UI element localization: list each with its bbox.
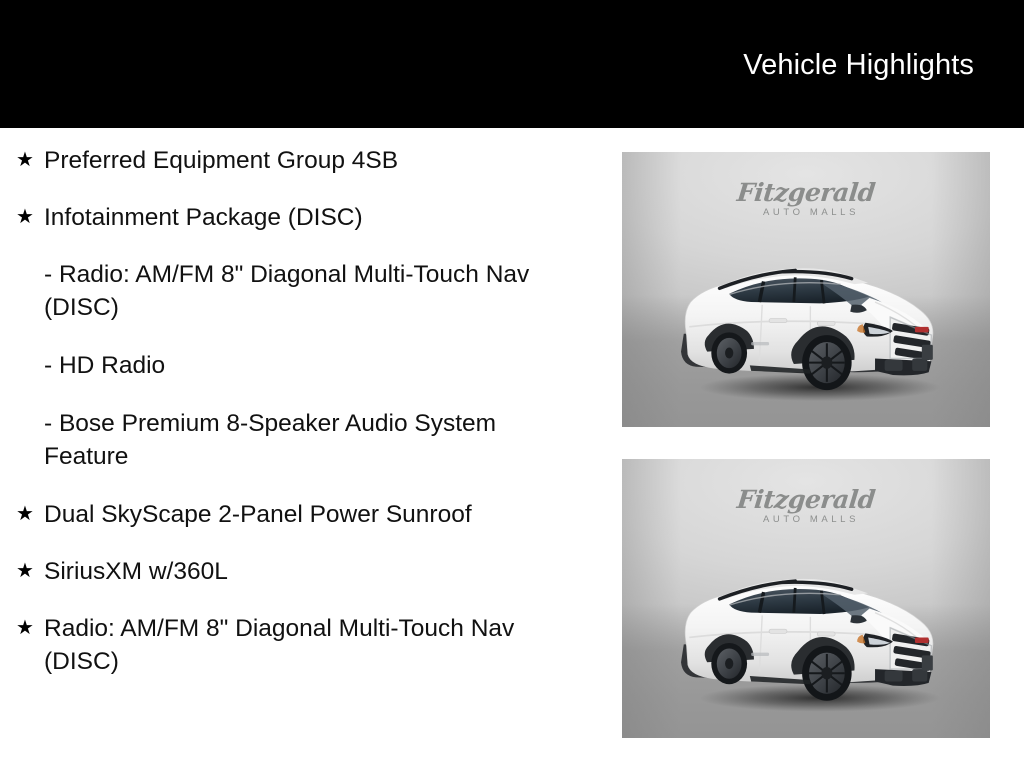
feature-sub-item: - Bose Premium 8-Speaker Audio System Fe… [0, 407, 600, 473]
vehicle-features-list: ★Preferred Equipment Group 4SB★Infotainm… [0, 128, 600, 768]
feature-label: Infotainment Package (DISC) [44, 204, 363, 231]
watermark-brand-text: Fitzgerald [736, 180, 876, 205]
watermark-brand-text: Fitzgerald [736, 487, 876, 512]
watermark-tagline-text: AUTO MALLS [747, 206, 875, 219]
feature-label: SiriusXM w/360L [44, 558, 228, 585]
watermark-tagline-text: AUTO MALLS [747, 513, 875, 526]
feature-label: - HD Radio [44, 352, 165, 379]
feature-label: - Radio: AM/FM 8" Diagonal Multi-Touch N… [44, 261, 529, 321]
feature-sub-item: - HD Radio [0, 349, 600, 382]
star-bullet-icon: ★ [14, 498, 36, 531]
header-band: Vehicle Highlights [0, 0, 1024, 128]
star-bullet-icon: ★ [14, 201, 36, 234]
star-bullet-icon: ★ [14, 555, 36, 588]
feature-list-item: ★Infotainment Package (DISC) [0, 201, 600, 234]
feature-sub-item: - Radio: AM/FM 8" Diagonal Multi-Touch N… [0, 258, 600, 324]
feature-list-item: ★Dual SkyScape 2-Panel Power Sunroof [0, 498, 600, 531]
vehicle-photo-1[interactable]: FitzgeraldAUTO MALLS [622, 152, 990, 427]
fitzgerald-watermark: FitzgeraldAUTO MALLS [737, 487, 875, 526]
feature-list-item: ★SiriusXM w/360L [0, 555, 600, 588]
star-bullet-icon: ★ [14, 144, 36, 177]
fitzgerald-watermark: FitzgeraldAUTO MALLS [737, 180, 875, 219]
feature-list-item: ★Preferred Equipment Group 4SB [0, 144, 600, 177]
page-title: Vehicle Highlights [743, 48, 974, 82]
feature-label: Radio: AM/FM 8" Diagonal Multi-Touch Nav… [44, 615, 514, 675]
feature-label: - Bose Premium 8-Speaker Audio System Fe… [44, 410, 496, 470]
feature-list-item: ★Radio: AM/FM 8" Diagonal Multi-Touch Na… [0, 612, 600, 678]
feature-label: Dual SkyScape 2-Panel Power Sunroof [44, 501, 472, 528]
suv-vehicle-image [648, 529, 964, 713]
suv-vehicle-image [648, 221, 964, 403]
vehicle-photo-2[interactable]: FitzgeraldAUTO MALLS [622, 459, 990, 738]
star-bullet-icon: ★ [14, 612, 36, 645]
feature-label: Preferred Equipment Group 4SB [44, 147, 398, 174]
